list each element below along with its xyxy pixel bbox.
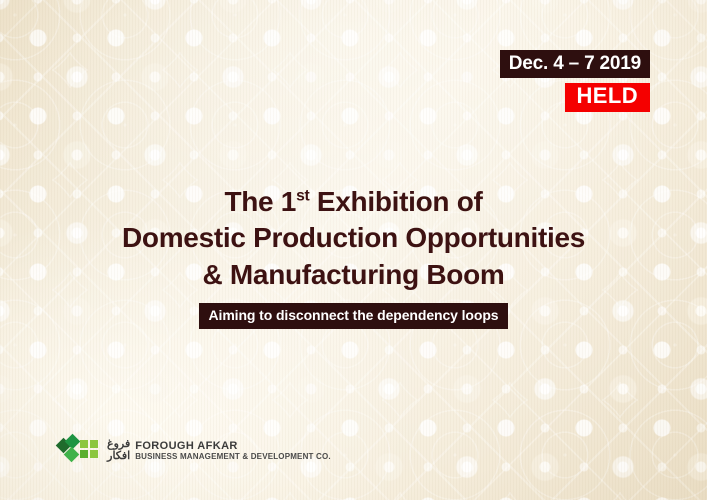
- subtitle-wrapper: Aiming to disconnect the dependency loop…: [0, 303, 707, 329]
- logo-company-name: FOROUGH AFKAR: [135, 440, 331, 452]
- logo-mark-icon: [58, 438, 102, 464]
- square-top-right-icon: [90, 440, 98, 448]
- badge-group: Dec. 4 – 7 2019 HELD: [500, 50, 650, 112]
- company-logo: فروغ افکار FOROUGH AFKAR BUSINESS MANAGE…: [58, 438, 331, 464]
- logo-persian-name: فروغ افکار: [107, 439, 130, 462]
- square-top-left-icon: [80, 440, 88, 448]
- title-line-2: Domestic Production Opportunities: [0, 220, 707, 256]
- square-bottom-right-icon: [90, 450, 98, 458]
- title-line-3: & Manufacturing Boom: [0, 257, 707, 293]
- title-line-1-prefix: The 1: [224, 186, 296, 217]
- logo-persian-line-2: افکار: [107, 451, 130, 463]
- logo-company-tagline: BUSINESS MANAGEMENT & DEVELOPMENT CO.: [135, 453, 331, 462]
- square-bottom-left-icon: [80, 450, 88, 458]
- logo-text-block: FOROUGH AFKAR BUSINESS MANAGEMENT & DEVE…: [135, 440, 331, 461]
- poster-subtitle: Aiming to disconnect the dependency loop…: [199, 303, 509, 329]
- title-line-1-suffix: Exhibition of: [309, 186, 482, 217]
- title-line-1: The 1st Exhibition of: [0, 184, 707, 220]
- title-block: The 1st Exhibition of Domestic Productio…: [0, 184, 707, 329]
- event-poster: Dec. 4 – 7 2019 HELD The 1st Exhibition …: [0, 0, 707, 500]
- ordinal-superscript: st: [296, 188, 309, 205]
- event-date-badge: Dec. 4 – 7 2019: [500, 50, 650, 78]
- status-badge: HELD: [565, 83, 651, 112]
